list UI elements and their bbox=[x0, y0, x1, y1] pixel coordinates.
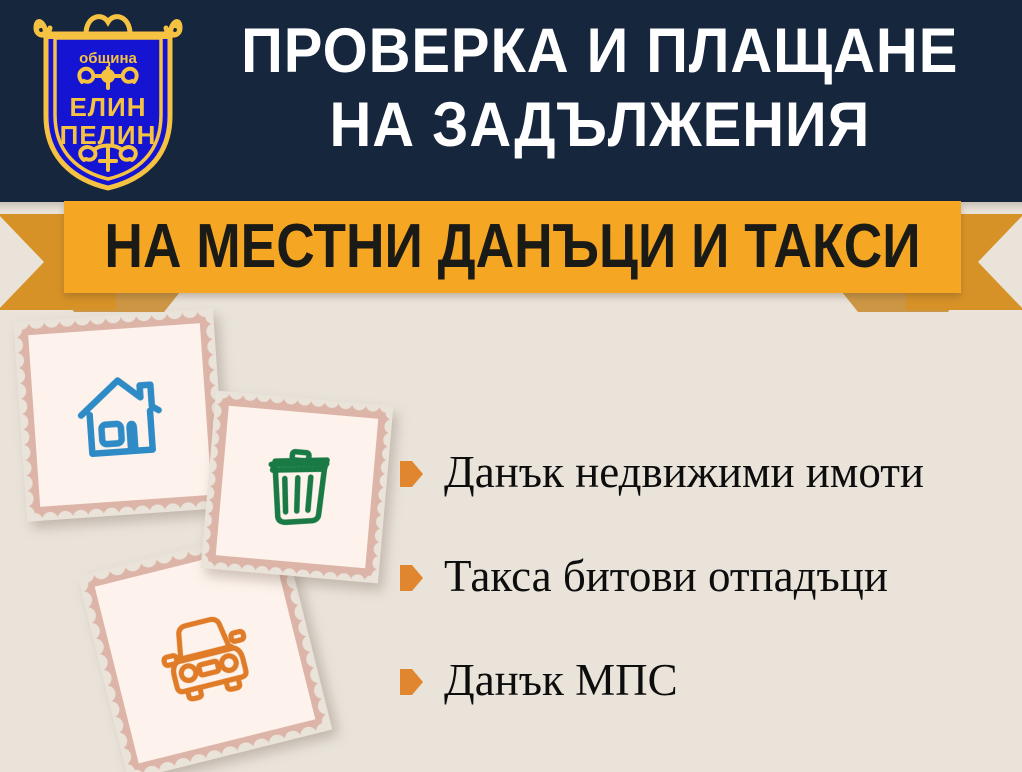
service-list: Данък недвижими имоти Такса битови отпад… bbox=[400, 420, 1010, 732]
stamp-card-trash bbox=[201, 391, 394, 584]
car-front-icon bbox=[142, 590, 268, 716]
house-icon bbox=[62, 357, 177, 472]
list-item-label: Данък недвижими имоти bbox=[444, 447, 924, 497]
poster-canvas: община ЕЛИН ПЕЛИН ПРОВЕРКА И П bbox=[0, 0, 1022, 772]
stamp-paper bbox=[95, 543, 316, 764]
list-item[interactable]: Данък МПС bbox=[400, 628, 1010, 732]
page-title: ПРОВЕРКА И ПЛАЩАНЕ НА ЗАДЪЛЖЕНИЯ bbox=[190, 14, 1010, 190]
coat-of-arms: община ЕЛИН ПЕЛИН bbox=[24, 8, 192, 194]
crest-icon: община ЕЛИН ПЕЛИН bbox=[24, 8, 192, 194]
title-line-1: ПРОВЕРКА И ПЛАЩАНЕ bbox=[241, 14, 958, 88]
stamp-paper bbox=[216, 406, 379, 569]
list-item-label: Данък МПС bbox=[444, 655, 678, 705]
list-item[interactable]: Такса битови отпадъци bbox=[400, 524, 1010, 628]
list-item-label: Такса битови отпадъци bbox=[444, 551, 888, 601]
crest-top-label: община bbox=[79, 50, 137, 67]
trash-bin-icon bbox=[247, 437, 347, 537]
ribbon-text: НА МЕСТНИ ДАНЪЦИ И ТАКСИ bbox=[104, 216, 920, 278]
title-line-2: НА ЗАДЪЛЖЕНИЯ bbox=[330, 88, 871, 162]
stamp-card-house bbox=[13, 308, 226, 521]
subtitle-ribbon: НА МЕСТНИ ДАНЪЦИ И ТАКСИ bbox=[0, 200, 1022, 310]
stamp-paper bbox=[28, 323, 212, 507]
bullet-arrow-icon bbox=[400, 669, 423, 695]
bullet-arrow-icon bbox=[400, 461, 423, 487]
ribbon-panel: НА МЕСТНИ ДАНЪЦИ И ТАКСИ bbox=[64, 201, 961, 293]
list-item[interactable]: Данък недвижими имоти bbox=[400, 420, 1010, 524]
bullet-arrow-icon bbox=[400, 565, 423, 591]
crest-name-line-1: ЕЛИН bbox=[69, 92, 146, 122]
